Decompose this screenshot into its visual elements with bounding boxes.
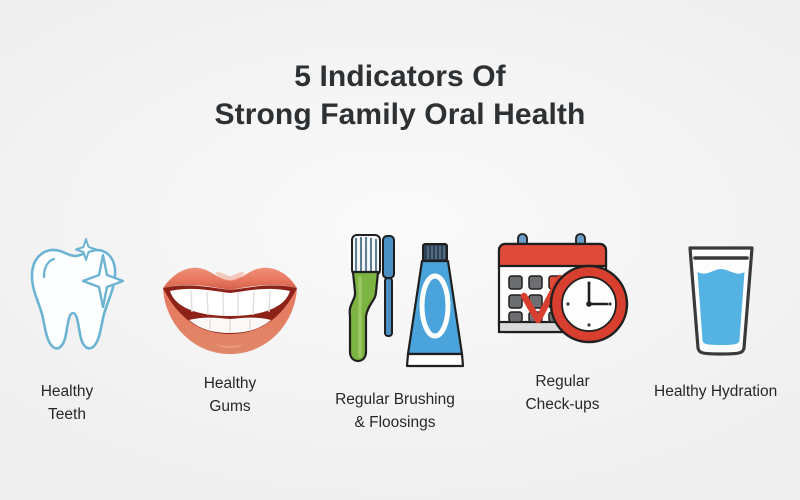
page-title-line-2: Strong Family Oral Health xyxy=(0,96,800,134)
icon-container-hydration xyxy=(648,228,800,358)
indicator-label-regular-brushing: Regular Brushing & Floosings xyxy=(310,388,480,434)
indicator-label-regular-checkups: Regular Check-ups xyxy=(490,370,635,416)
indicator-label-healthy-gums: Healthy Gums xyxy=(155,372,305,418)
label-line-1: Regular xyxy=(490,370,635,393)
smiling-mouth-icon xyxy=(155,246,305,358)
label-line-1: Healthy xyxy=(0,380,147,403)
calendar-clock-icon xyxy=(490,228,635,358)
label-line-2: Teeth xyxy=(0,403,147,426)
label-line-2: & Floosings xyxy=(310,411,480,434)
tooth-sparkle-icon xyxy=(2,228,132,358)
indicator-healthy-teeth: Healthy Teeth xyxy=(0,228,147,458)
icon-container-brushing xyxy=(310,228,480,358)
indicator-healthy-gums: Healthy Gums xyxy=(155,228,305,458)
indicator-regular-checkups: Regular Check-ups xyxy=(490,228,635,458)
indicator-row: Healthy Teeth xyxy=(0,228,800,458)
page-title-line-1: 5 Indicators Of xyxy=(0,58,800,96)
label-line-1: Healthy xyxy=(155,372,305,395)
icon-container-checkups xyxy=(490,228,635,358)
label-line-1: Healthy Hydration xyxy=(654,380,800,403)
icon-container-gums xyxy=(155,228,305,358)
icon-container-teeth xyxy=(0,228,147,358)
indicator-regular-brushing: Regular Brushing & Floosings xyxy=(310,228,480,458)
indicator-healthy-hydration: Healthy Hydration xyxy=(648,228,800,458)
indicator-label-healthy-hydration: Healthy Hydration xyxy=(648,380,800,403)
water-glass-icon xyxy=(676,240,766,358)
toothbrush-toothpaste-icon xyxy=(310,228,480,378)
indicator-label-healthy-teeth: Healthy Teeth xyxy=(0,380,147,426)
label-line-2: Gums xyxy=(155,395,305,418)
label-line-2: Check-ups xyxy=(490,393,635,416)
label-line-1: Regular Brushing xyxy=(310,388,480,411)
page-title: 5 Indicators Of Strong Family Oral Healt… xyxy=(0,58,800,134)
infographic-slide: 5 Indicators Of Strong Family Oral Healt… xyxy=(0,0,800,500)
